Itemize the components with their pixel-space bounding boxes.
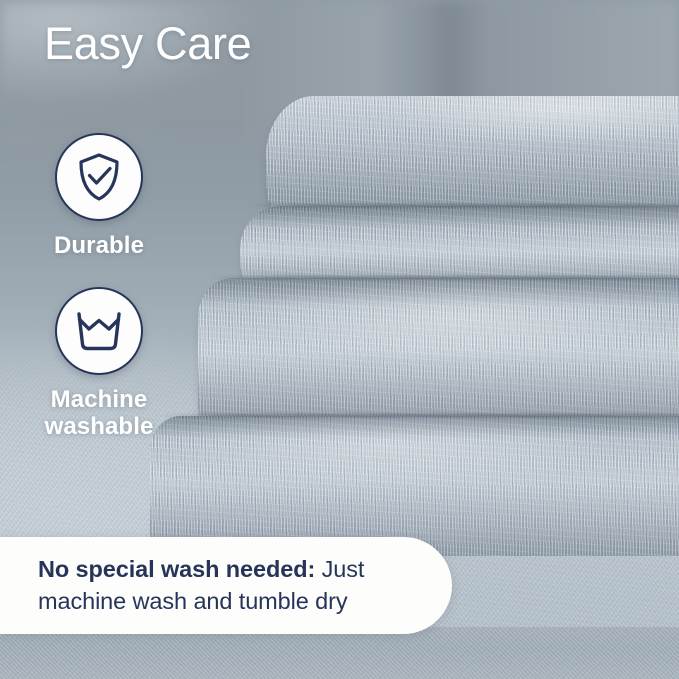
feature-machine-washable-badge	[55, 287, 143, 375]
sheet-crease-2	[210, 276, 679, 279]
sheet-crease-3	[160, 414, 679, 417]
sheet-fold-4	[150, 416, 679, 556]
folded-sheet-stack	[180, 96, 679, 556]
feature-machine-washable: Machine washable	[11, 287, 187, 440]
product-feature-graphic: Easy Care Durable Machine washable	[0, 0, 679, 679]
page-title: Easy Care	[44, 18, 251, 70]
shield-check-icon	[72, 150, 126, 204]
care-instruction-banner: No special wash needed: Just machine was…	[0, 537, 452, 634]
wash-tub-icon	[72, 308, 126, 354]
feature-durable-label: Durable	[11, 232, 187, 259]
sheet-crease-1	[250, 204, 679, 207]
background-front-table-edge	[0, 627, 679, 679]
feature-label-line-1: Machine	[11, 386, 187, 413]
care-instruction-line-2: machine wash and tumble dry	[38, 588, 348, 614]
care-instruction-lead: No special wash needed:	[38, 556, 315, 582]
feature-durable-badge	[55, 133, 143, 221]
feature-machine-washable-label: Machine washable	[11, 386, 187, 440]
feature-label-line-2: washable	[11, 413, 187, 440]
care-instruction-rest: Just	[315, 556, 364, 582]
care-instruction-text: No special wash needed: Just machine was…	[0, 554, 410, 617]
feature-durable: Durable	[11, 133, 187, 259]
sheet-fold-3	[198, 278, 679, 434]
